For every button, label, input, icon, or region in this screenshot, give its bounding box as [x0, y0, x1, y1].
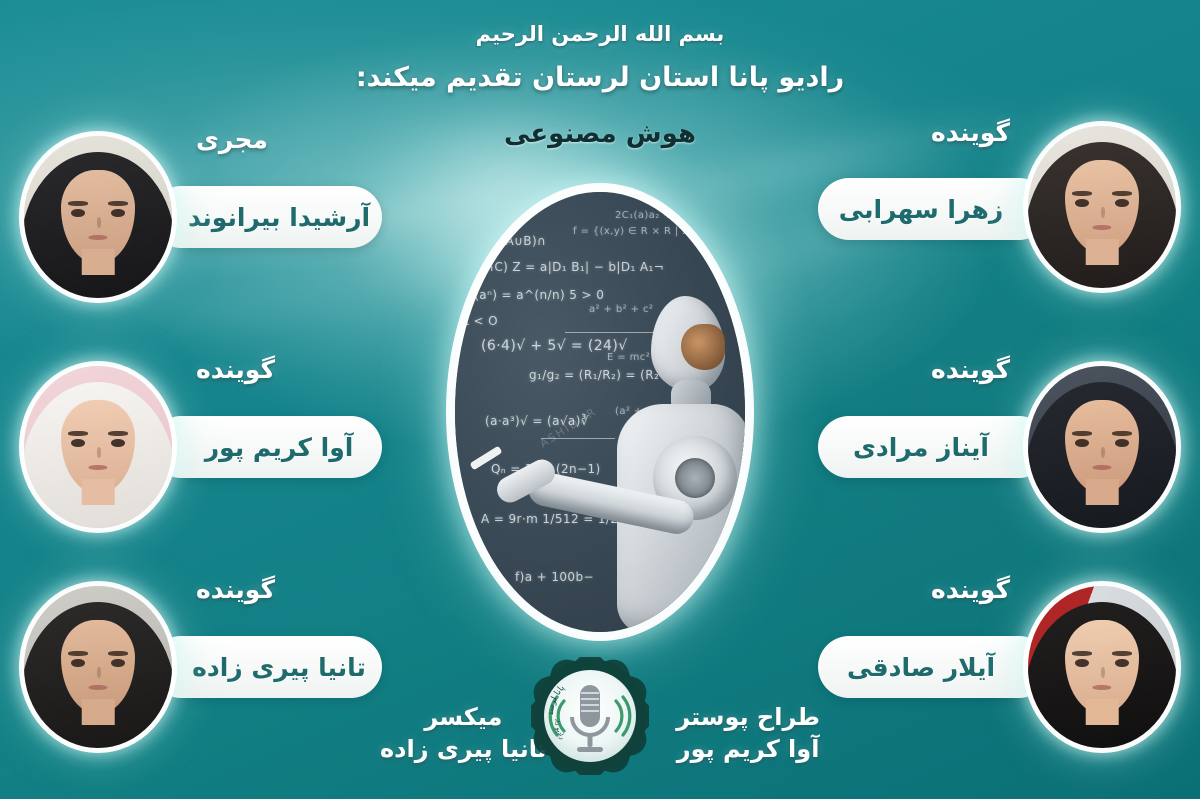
station-presents-text: رادیو پانا استان لرستان تقدیم میکند: [0, 62, 1200, 93]
avatar [1028, 126, 1176, 288]
credit-mixer: میکسر تانیا پیری زاده [380, 703, 547, 763]
avatar [24, 366, 172, 528]
portrait-photo [24, 586, 172, 748]
person-role-label: گوینده [196, 355, 275, 384]
portrait-photo [1028, 366, 1176, 528]
credit-poster-designer: طراح پوستر آوا کریم پور [676, 703, 820, 763]
poster-header: بسم الله الرحمن الرحیم رادیو پانا استان … [0, 0, 1200, 149]
avatar [24, 586, 172, 748]
person-role-label: گوینده [931, 575, 1010, 604]
chalk-formula: K < O [461, 314, 498, 328]
person-name: زهرا سهرابی [839, 195, 1003, 224]
person-role-label: گوینده [196, 575, 275, 604]
person-name-plate: آوا کریم پور [150, 416, 382, 478]
poster-canvas: بسم الله الرحمن الرحیم رادیو پانا استان … [0, 0, 1200, 799]
person-name-plate: آیناز مرادی [818, 416, 1050, 478]
person-name: آرشیدا بیرانوند [188, 203, 370, 232]
robot-visor [681, 324, 725, 370]
person-name-plate: آیلار صادقی [818, 636, 1050, 698]
portrait-photo [24, 366, 172, 528]
microphone-radio-logo: پانا لرستان رادیو دانش آموزی ایران [531, 657, 649, 775]
person-name: آیناز مرادی [853, 433, 989, 462]
person-name: آوا کریم پور [205, 433, 354, 462]
portrait-photo [1028, 586, 1176, 748]
chalk-formula: f = {(x,y) ∈ R × R | x = a} [573, 226, 718, 237]
person-role-label: گوینده [931, 355, 1010, 384]
robot-blackboard-image: ∩(A∪B)+n(C) f = {(x,y) ∈ R × R | x = a} … [455, 192, 745, 632]
chalk-formula: 2C₁(a)a₂ + 2ba₃ [615, 210, 700, 221]
credit-role-label: طراح پوستر [676, 703, 820, 731]
avatar [1028, 586, 1176, 748]
credit-person-name: آوا کریم پور [676, 735, 820, 763]
robot-figure [573, 240, 745, 632]
person-name-plate: آرشیدا بیرانوند [150, 186, 382, 248]
person-name-plate: تانیا پیری زاده [150, 636, 382, 698]
avatar [1028, 366, 1176, 528]
portrait-photo [1028, 126, 1176, 288]
chalk-formula: ∩(A∪B)+n(C) [463, 234, 546, 248]
program-topic-title: هوش مصنوعی [0, 119, 1200, 149]
bismillah-text: بسم الله الرحمن الرحیم [0, 22, 1200, 46]
person-name-plate: زهرا سهرابی [818, 178, 1050, 240]
portrait-photo [24, 136, 172, 298]
avatar [24, 136, 172, 298]
credit-person-name: تانیا پیری زاده [380, 735, 547, 763]
person-name: تانیا پیری زاده [192, 653, 366, 682]
person-name: آیلار صادقی [847, 653, 995, 682]
credit-role-label: میکسر [380, 703, 547, 731]
